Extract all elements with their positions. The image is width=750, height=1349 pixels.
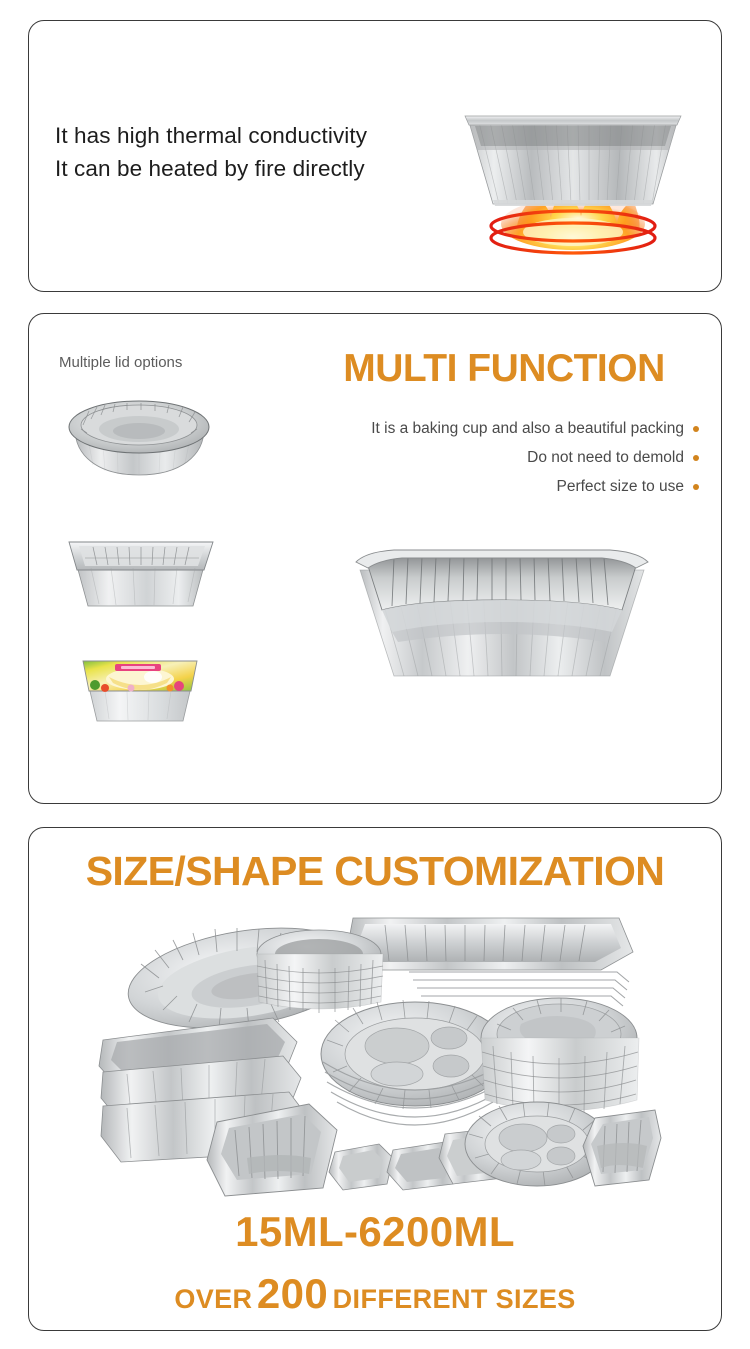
panel-size-shape-customization: SIZE/SHAPE CUSTOMIZATION: [28, 827, 722, 1331]
multi-function-heading: MULTI FUNCTION: [309, 347, 699, 391]
lid-option-rectangular-image: [63, 522, 218, 614]
panel-multi-function: Multiple lid options: [28, 313, 722, 804]
collage-compartment-platter: [321, 1000, 509, 1125]
lid-option-printed-image: [75, 647, 205, 727]
collage-large-steam-pan: [347, 918, 633, 1006]
size-shape-heading: SIZE/SHAPE CUSTOMIZATION: [29, 848, 721, 895]
tray-flame-graphic: [457, 106, 689, 256]
multi-function-bullet-list: It is a baking cup and also a beautiful …: [279, 414, 699, 501]
lid-options-label: Multiple lid options: [59, 354, 182, 371]
panel-thermal-conductivity: It has high thermal conductivity It can …: [28, 20, 722, 292]
bullet-dot-icon: [693, 426, 699, 432]
bullet-item: Perfect size to use: [279, 472, 699, 501]
bullet-item: Do not need to demold: [279, 443, 699, 472]
collage-square-pan-right: [583, 1110, 661, 1186]
over-sizes-line: OVER 200 DIFFERENT SIZES: [29, 1270, 721, 1318]
round-foil-container-icon: [57, 389, 222, 484]
bullet-item: It is a baking cup and also a beautiful …: [279, 414, 699, 443]
containers-collage-image: [97, 906, 661, 1196]
bullet-dot-icon: [693, 484, 699, 490]
over-suffix: DIFFERENT SIZES: [333, 1284, 576, 1314]
over-prefix: OVER: [174, 1284, 252, 1314]
large-foil-tray-image: [334, 536, 664, 696]
volume-range-text: 15ML-6200ML: [29, 1208, 721, 1256]
thermal-text-block: It has high thermal conductivity It can …: [55, 119, 367, 185]
bullet-dot-icon: [693, 455, 699, 461]
lid-option-round-image: [57, 389, 222, 484]
over-count: 200: [257, 1270, 328, 1317]
bullet-text: Perfect size to use: [556, 478, 684, 496]
thermal-line-2: It can be heated by fire directly: [55, 152, 367, 185]
rectangular-foil-container-icon: [63, 522, 218, 614]
assorted-foil-containers-graphic: [97, 906, 661, 1196]
foil-tray: [465, 116, 681, 206]
large-rectangular-tray-icon: [334, 536, 664, 696]
bullet-text: It is a baking cup and also a beautiful …: [371, 420, 684, 438]
collage-cup-stack-center: [257, 930, 383, 1013]
collage-round-lidded-stack: [481, 998, 639, 1115]
bullet-text: Do not need to demold: [527, 449, 684, 467]
printed-paper-lid-container-icon: [75, 647, 205, 727]
thermal-line-1: It has high thermal conductivity: [55, 119, 367, 152]
foil-tray-over-flames-image: [457, 106, 689, 256]
